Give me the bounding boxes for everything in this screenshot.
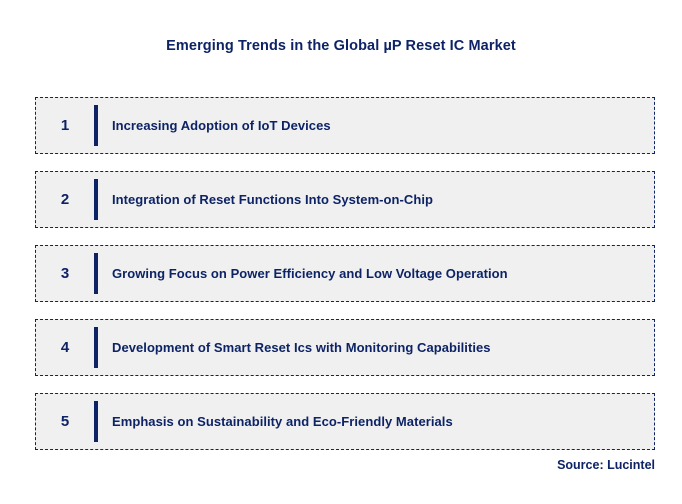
- trend-label: Growing Focus on Power Efficiency and Lo…: [98, 266, 508, 281]
- trend-number: 3: [36, 265, 94, 282]
- page-title: Emerging Trends in the Global µP Reset I…: [0, 38, 682, 54]
- trend-number: 5: [36, 413, 94, 430]
- trend-number: 1: [36, 117, 94, 134]
- trend-row[interactable]: 2 Integration of Reset Functions Into Sy…: [35, 171, 655, 228]
- trend-label: Development of Smart Reset Ics with Moni…: [98, 340, 491, 355]
- trend-label: Integration of Reset Functions Into Syst…: [98, 192, 433, 207]
- trend-row[interactable]: 3 Growing Focus on Power Efficiency and …: [35, 245, 655, 302]
- infographic-page: Emerging Trends in the Global µP Reset I…: [0, 0, 682, 504]
- trend-row[interactable]: 1 Increasing Adoption of IoT Devices: [35, 97, 655, 154]
- trend-row[interactable]: 5 Emphasis on Sustainability and Eco-Fri…: [35, 393, 655, 450]
- trend-number: 4: [36, 339, 94, 356]
- trend-label: Emphasis on Sustainability and Eco-Frien…: [98, 414, 453, 429]
- trend-label: Increasing Adoption of IoT Devices: [98, 118, 331, 133]
- trend-list: 1 Increasing Adoption of IoT Devices 2 I…: [35, 97, 655, 450]
- trend-row[interactable]: 4 Development of Smart Reset Ics with Mo…: [35, 319, 655, 376]
- trend-number: 2: [36, 191, 94, 208]
- source-attribution: Source: Lucintel: [0, 458, 655, 472]
